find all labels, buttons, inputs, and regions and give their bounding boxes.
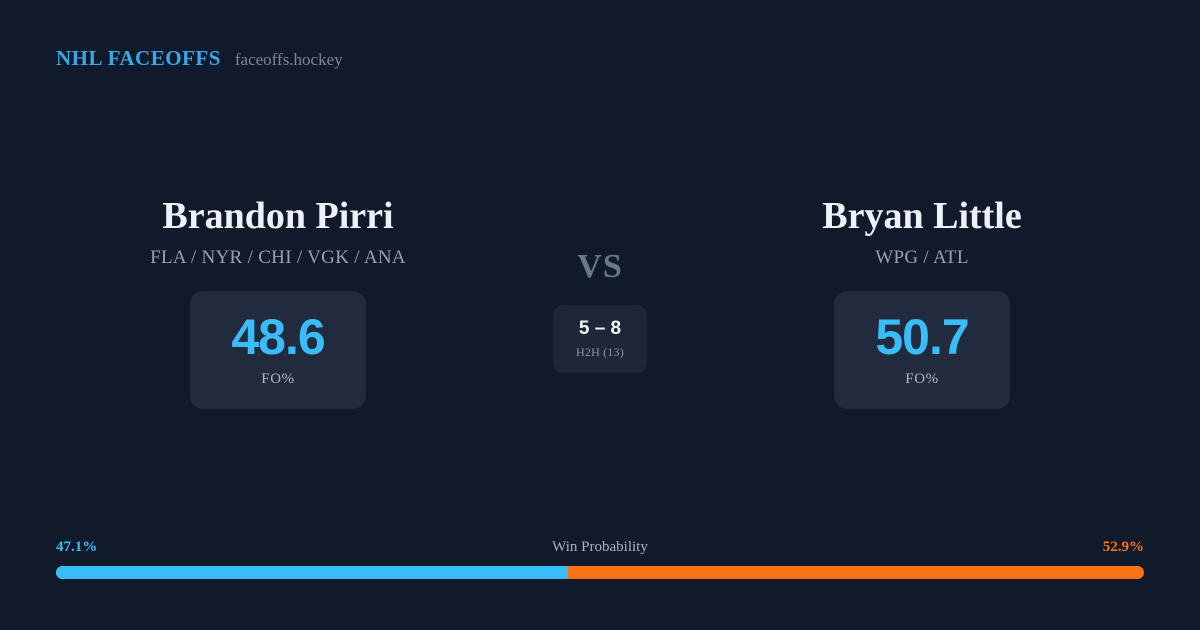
matchup-row: Brandon Pirri FLA / NYR / CHI / VGK / AN… <box>0 195 1200 409</box>
win-probability-labels: 47.1% Win Probability 52.9% <box>56 537 1144 557</box>
player-card-right: Bryan Little WPG / ATL 50.7 FO% <box>698 195 1146 409</box>
head-to-head-label: H2H (13) <box>576 345 624 360</box>
player-name-left: Brandon Pirri <box>162 195 393 238</box>
faceoff-stat-card-left: 48.6 FO% <box>190 291 366 409</box>
brand-logo-text: NHL FACEOFFS <box>56 46 221 71</box>
matchup-graphic: NHL FACEOFFS faceoffs.hockey Brandon Pir… <box>0 0 1200 630</box>
player-card-left: Brandon Pirri FLA / NYR / CHI / VGK / AN… <box>54 195 502 409</box>
win-probability-left-value: 47.1% <box>56 537 97 557</box>
brand-domain-text: faceoffs.hockey <box>235 50 343 70</box>
versus-column: VS 5 – 8 H2H (13) <box>502 195 698 373</box>
player-name-right: Bryan Little <box>822 195 1021 238</box>
versus-label: VS <box>577 250 622 284</box>
player-teams-left: FLA / NYR / CHI / VGK / ANA <box>150 247 406 269</box>
faceoff-percentage-left: 48.6 <box>231 312 324 362</box>
win-probability-title: Win Probability <box>552 537 648 557</box>
faceoff-stat-label-right: FO% <box>905 371 938 388</box>
win-probability-bar <box>56 566 1144 579</box>
head-to-head-score: 5 – 8 <box>579 319 621 338</box>
faceoff-percentage-right: 50.7 <box>875 312 968 362</box>
win-probability-section: 47.1% Win Probability 52.9% <box>56 537 1144 579</box>
head-to-head-card: 5 – 8 H2H (13) <box>553 305 647 373</box>
faceoff-stat-card-right: 50.7 FO% <box>834 291 1010 409</box>
win-probability-left-fill <box>56 566 568 579</box>
player-teams-right: WPG / ATL <box>875 247 968 269</box>
faceoff-stat-label-left: FO% <box>261 371 294 388</box>
site-header: NHL FACEOFFS faceoffs.hockey <box>56 46 343 71</box>
win-probability-right-value: 52.9% <box>1103 537 1144 557</box>
